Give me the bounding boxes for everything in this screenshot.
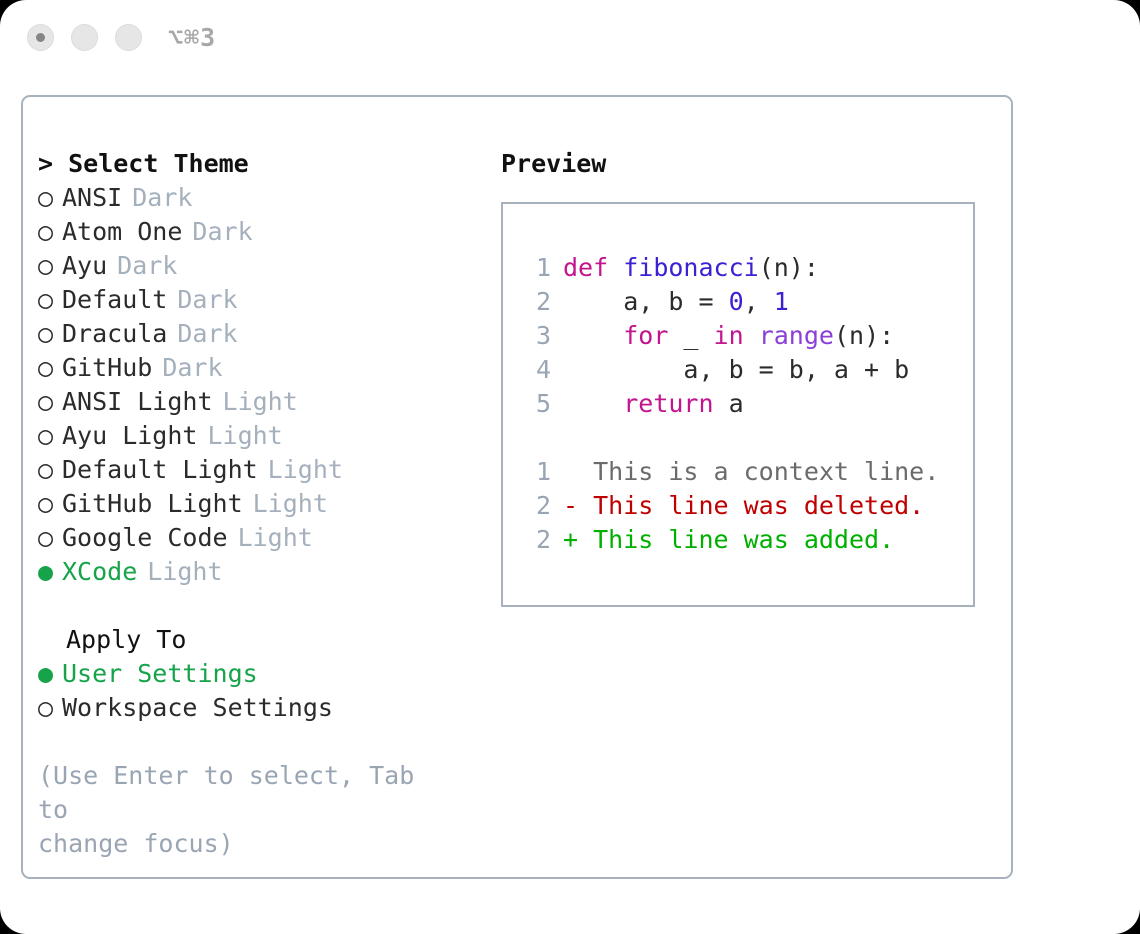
keyboard-hint-text: (Use Enter to select, Tab to change focu… [38,725,448,861]
diff-line-content: This is a context line. [563,455,939,489]
theme-option-label: Default [62,283,167,317]
theme-list: ○ANSIDark○Atom OneDark○AyuDark○DefaultDa… [38,181,488,589]
code-sample: 1def fibonacci(n):2 a, b = 0, 13 for _ i… [503,251,973,421]
line-number: 2 [525,285,551,319]
theme-option-kind: Dark [152,351,222,385]
line-number: 5 [525,387,551,421]
apply-to-option-user-settings[interactable]: ●User Settings [38,657,488,691]
app-window: ⌥⌘3 > Select Theme ○ANSIDark○Atom OneDar… [0,0,1140,934]
code-line: 2 a, b = 0, 1 [503,285,973,319]
token-txt [744,321,759,350]
radio-selected-icon: ● [38,555,62,589]
theme-option-dracula[interactable]: ○DraculaDark [38,317,488,351]
theme-option-github[interactable]: ○GitHubDark [38,351,488,385]
radio-empty-icon: ○ [38,487,62,521]
theme-option-kind: Light [243,487,328,521]
theme-option-label: ANSI [62,181,122,215]
diff-line: 1 This is a context line. [503,455,973,489]
token-txt: (n): [834,321,894,350]
code-line-content: a, b = b, a + b [563,353,909,387]
apply-to-option-workspace-settings[interactable]: ○Workspace Settings [38,691,488,725]
theme-option-label: Atom One [62,215,182,249]
line-number: 2 [525,523,551,557]
token-kw: in [714,321,744,350]
diff-line-content: + This line was added. [563,523,894,557]
theme-option-kind: Light [197,419,282,453]
theme-option-kind: Dark [167,283,237,317]
code-line-content: for _ in range(n): [563,319,894,353]
token-del: - This line was deleted. [563,491,924,520]
window-dot-icon-2[interactable] [71,24,98,51]
theme-option-default[interactable]: ○DefaultDark [38,283,488,317]
theme-option-kind: Dark [182,215,252,249]
radio-selected-icon: ● [38,657,62,691]
line-number: 3 [525,319,551,353]
line-number: 1 [525,455,551,489]
preview-box: 1def fibonacci(n):2 a, b = 0, 13 for _ i… [501,202,975,607]
code-line: 5 return a [503,387,973,421]
token-ctx: This is a context line. [563,457,939,486]
theme-option-kind: Dark [122,181,192,215]
code-line: 1def fibonacci(n): [503,251,973,285]
window-dot-active-icon[interactable] [27,24,54,51]
token-kw: for [623,321,668,350]
theme-option-label: Ayu Light [62,419,197,453]
theme-selector-column: > Select Theme ○ANSIDark○Atom OneDark○Ay… [38,147,488,861]
theme-option-default-light[interactable]: ○Default LightLight [38,453,488,487]
theme-option-ayu-light[interactable]: ○Ayu LightLight [38,419,488,453]
code-line-content: a, b = 0, 1 [563,285,789,319]
diff-line: 2+ This line was added. [503,523,973,557]
theme-option-label: Google Code [62,521,228,555]
radio-empty-icon: ○ [38,351,62,385]
token-add: + This line was added. [563,525,894,554]
window-dot-icon-3[interactable] [115,24,142,51]
theme-option-atom-one[interactable]: ○Atom OneDark [38,215,488,249]
apply-to-heading: Apply To [38,623,488,657]
apply-spacer [38,589,488,623]
theme-option-label: Ayu [62,249,107,283]
code-line-content: def fibonacci(n): [563,251,819,285]
title-bar: ⌥⌘3 [0,0,1140,78]
theme-option-kind: Dark [107,249,177,283]
theme-option-kind: Light [258,453,343,487]
keyboard-shortcut-label: ⌥⌘3 [168,22,216,54]
preview-column: Preview 1def fibonacci(n):2 a, b = 0, 13… [501,147,996,607]
theme-option-kind: Light [213,385,298,419]
window-controls [27,24,142,51]
code-line: 4 a, b = b, a + b [503,353,973,387]
token-txt: _ [668,321,713,350]
theme-option-kind: Light [228,521,313,555]
line-number: 1 [525,251,551,285]
main-panel: > Select Theme ○ANSIDark○Atom OneDark○Ay… [21,95,1013,879]
theme-option-label: XCode [62,555,137,589]
theme-option-label: Default Light [62,453,258,487]
theme-option-xcode[interactable]: ●XCodeLight [38,555,488,589]
radio-empty-icon: ○ [38,249,62,283]
token-txt: a, b = b, a + b [563,355,909,384]
token-txt [563,389,623,418]
diff-line-content: - This line was deleted. [563,489,924,523]
token-num: 0 [729,287,744,316]
theme-option-google-code[interactable]: ○Google CodeLight [38,521,488,555]
token-txt: a [714,389,744,418]
token-bi: range [759,321,834,350]
theme-option-ansi-light[interactable]: ○ANSI LightLight [38,385,488,419]
token-txt: , [744,287,774,316]
radio-empty-icon: ○ [38,419,62,453]
token-txt [563,321,623,350]
apply-to-option-label: Workspace Settings [62,691,333,725]
radio-empty-icon: ○ [38,385,62,419]
theme-option-label: GitHub [62,351,152,385]
token-num: 1 [774,287,789,316]
radio-empty-icon: ○ [38,521,62,555]
theme-option-kind: Dark [167,317,237,351]
radio-empty-icon: ○ [38,215,62,249]
apply-to-list: ●User Settings○Workspace Settings [38,657,488,725]
apply-to-option-label: User Settings [62,657,258,691]
line-number: 2 [525,489,551,523]
theme-option-label: Dracula [62,317,167,351]
theme-option-ayu[interactable]: ○AyuDark [38,249,488,283]
radio-empty-icon: ○ [38,317,62,351]
theme-option-label: ANSI Light [62,385,213,419]
theme-option-github-light[interactable]: ○GitHub LightLight [38,487,488,521]
preview-title: Preview [501,147,996,181]
radio-empty-icon: ○ [38,453,62,487]
diff-sample: 1 This is a context line.2- This line wa… [503,455,973,557]
line-number: 4 [525,353,551,387]
token-fn: fibonacci [623,253,758,282]
diff-line: 2- This line was deleted. [503,489,973,523]
radio-empty-icon: ○ [38,283,62,317]
radio-empty-icon: ○ [38,691,62,725]
token-kw: return [623,389,713,418]
theme-option-ansi[interactable]: ○ANSIDark [38,181,488,215]
page-title: > Select Theme [38,147,488,181]
radio-empty-icon: ○ [38,181,62,215]
token-txt: a, b = [563,287,729,316]
token-txt: (n): [759,253,819,282]
theme-option-kind: Light [137,555,222,589]
token-kw: def [563,253,623,282]
code-diff-separator [503,421,973,455]
code-line-content: return a [563,387,744,421]
theme-option-label: GitHub Light [62,487,243,521]
code-line: 3 for _ in range(n): [503,319,973,353]
